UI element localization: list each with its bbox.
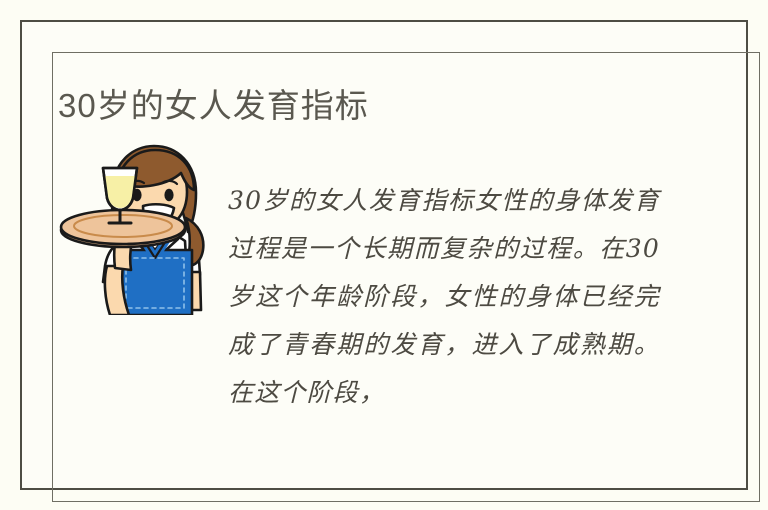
article-page: 30岁的女人发育指标 [0,0,768,510]
article-body-text: 30岁的女人发育指标女性的身体发育过程是一个长期而复杂的过程。在30岁这个年龄阶… [228,177,660,417]
page-title: 30岁的女人发育指标 [58,84,678,128]
waitress-with-tray-icon [55,140,215,315]
article-content: 30岁的女人发育指标女性的身体发育过程是一个长期而复杂的过程。在30岁这个年龄阶… [55,140,695,440]
